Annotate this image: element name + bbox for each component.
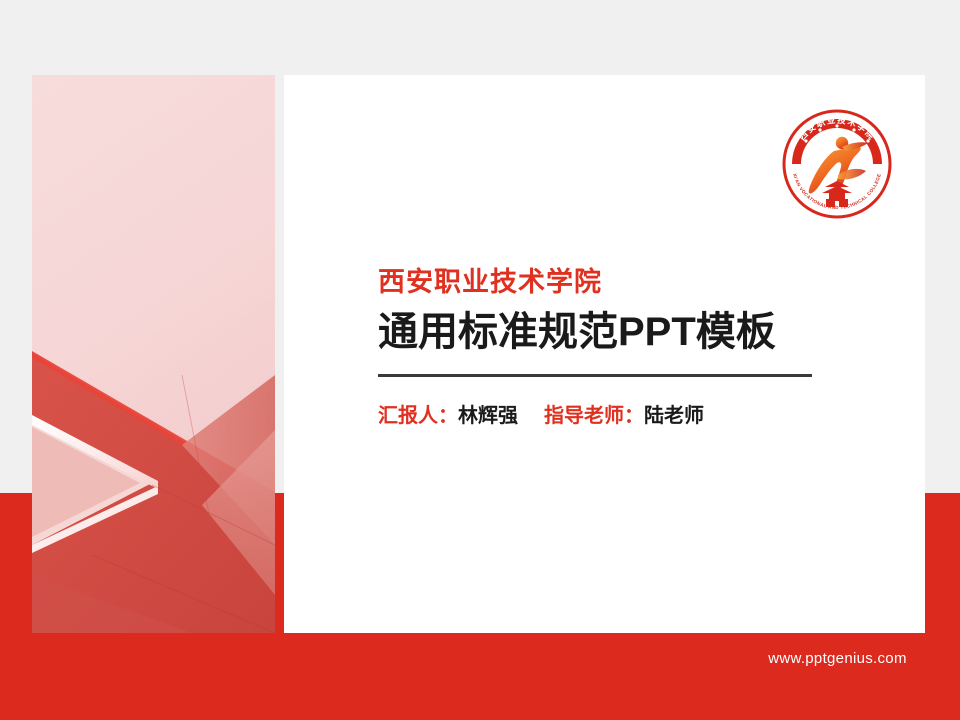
presenter-label: 汇报人： xyxy=(378,405,458,427)
presentation-title-slide: 西安职业技术学院 xyxy=(0,0,960,720)
university-emblem-icon: 西安职业技术学院 xyxy=(776,103,898,225)
title-divider xyxy=(378,374,812,377)
university-logo: 西安职业技术学院 xyxy=(776,103,898,225)
decorative-photo-panel xyxy=(32,75,275,633)
advisor-name: 陆老师 xyxy=(644,405,704,427)
website-url[interactable]: www.pptgenius.com xyxy=(750,650,925,667)
title-text-block: 西安职业技术学院 通用标准规范PPT模板 汇报人：林辉强指导老师：陆老师 xyxy=(378,266,878,429)
advisor-label: 指导老师： xyxy=(544,405,644,427)
university-name: 西安职业技术学院 xyxy=(378,266,878,300)
presenter-line: 汇报人：林辉强指导老师：陆老师 xyxy=(378,403,878,429)
page-title: 通用标准规范PPT模板 xyxy=(378,308,878,356)
presenter-name: 林辉强 xyxy=(458,405,518,427)
architecture-photo-image xyxy=(32,75,275,633)
